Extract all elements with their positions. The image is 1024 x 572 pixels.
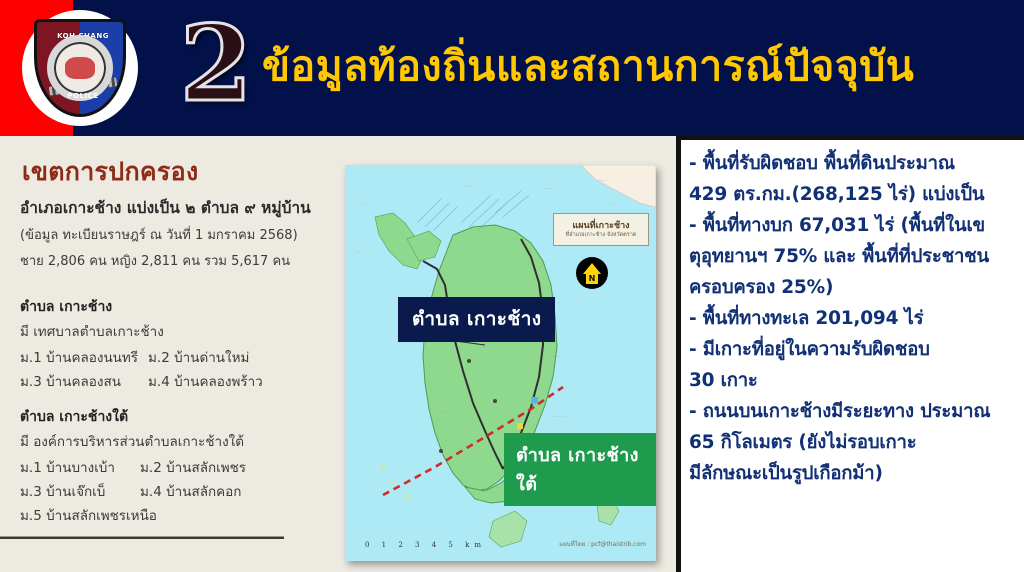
svg-text:........: ........ (597, 177, 607, 182)
north-arrow-icon: N (576, 257, 608, 289)
koh-chang-police-badge: KOH CHANG POLICE (22, 10, 138, 126)
header-bar: KOH CHANG POLICE 2 ข้อมูลท้องถิ่นและสถาน… (0, 0, 1024, 136)
right-panel-line: - ถนนบนเกาะช้างมีระยะทาง ประมาณ (689, 396, 1024, 427)
svg-text:.....: ..... (355, 249, 361, 254)
left-panel-subheading: อำเภอเกาะช้าง แบ่งเป็น ๒ ตำบล ๙ หมู่บ้าน (20, 195, 311, 220)
population-stats: ชาย 2,806 คน หญิง 2,811 คน รวม 5,617 คน (20, 250, 290, 271)
badge-inner: KOH CHANG POLICE (34, 19, 126, 117)
right-panel-line: - พื้นที่ทางทะเล 201,094 ไร่ (689, 303, 1024, 334)
tambon-koh-chang-title: ตำบล เกาะช้าง (20, 296, 112, 318)
horizontal-divider (0, 536, 284, 539)
map-label-tambon-koh-chang-tai: ตำบล เกาะช้างใต้ (504, 433, 656, 506)
badge-bottom-text: POLICE (37, 92, 129, 100)
right-panel-line: 429 ตร.กม.(268,125 ไร่) แบ่งเป็น (689, 179, 1024, 210)
village-item: ม.1 บ้านบางเบ้า (20, 456, 115, 478)
section-number: 2 (176, 4, 256, 124)
map-credit: แผนที่โดย : pcf@thaistrib.com (559, 539, 646, 549)
left-panel-note: (ข้อมูล ทะเบียนราษฎร์ ณ วันที่ 1 มกราคม … (20, 224, 298, 245)
right-panel-line: - พื้นที่ทางบก 67,031 ไร่ (พื้นที่ในเข (689, 210, 1024, 241)
right-panel-line: 30 เกาะ (689, 365, 1024, 396)
svg-text:.......: ....... (551, 353, 560, 358)
right-panel-line: 65 กิโลเมตร (ยังไม่รอบเกาะ (689, 427, 1024, 458)
koh-chang-map-image: .......... ............ ............. ..… (345, 165, 656, 561)
map-label-tambon-koh-chang: ตำบล เกาะช้าง (398, 297, 555, 342)
map-legend-subtitle: ที่อำเภอเกาะช้าง จังหวัดตราด (554, 231, 648, 239)
svg-text:......: ...... (545, 185, 553, 190)
right-panel-text: - พื้นที่รับผิดชอบ พื้นที่ดินประมาณ429 ต… (689, 148, 1024, 489)
village-item: ม.4 บ้านคลองพร้าว (148, 370, 263, 392)
village-item: ม.2 บ้านด่านใหม่ (148, 346, 249, 368)
svg-text:..........: .......... (553, 413, 566, 418)
left-panel-heading: เขตการปกครอง (22, 152, 198, 192)
svg-text:.....: ..... (607, 201, 613, 206)
village-item: ม.1 บ้านคลองนนทรี (20, 346, 138, 368)
svg-text:.....: ..... (441, 409, 447, 414)
slide-root: KOH CHANG POLICE 2 ข้อมูลท้องถิ่นและสถาน… (0, 0, 1024, 572)
right-info-panel: - พื้นที่รับผิดชอบ พื้นที่ดินประมาณ429 ต… (676, 136, 1024, 572)
tambon-koh-chang-admin: มี เทศบาลตำบลเกาะช้าง (20, 320, 164, 342)
svg-text:....: .... (405, 527, 410, 532)
map-legend-title: แผนที่เกาะช้าง (554, 218, 648, 232)
village-item: ม.5 บ้านสลักเพชรเหนือ (20, 504, 157, 526)
north-letter: N (576, 273, 608, 284)
map-scale-bar: 0 1 2 3 4 5 km (365, 541, 486, 549)
svg-text:.....: ..... (359, 201, 365, 206)
village-item: ม.3 บ้านเจ๊กเบ็ (20, 480, 105, 502)
right-panel-line: - พื้นที่รับผิดชอบ พื้นที่ดินประมาณ (689, 148, 1024, 179)
village-item: ม.3 บ้านคลองสน (20, 370, 121, 392)
village-item: ม.4 บ้านสลักคอก (140, 480, 241, 502)
right-panel-line: ตุอุทยานฯ 75% และ พื้นที่ที่ประชาชน (689, 241, 1024, 272)
tambon-koh-chang-tai-title: ตำบล เกาะช้างใต้ (20, 406, 128, 428)
tambon-koh-chang-tai-admin: มี องค์การบริหารส่วนตำบลเกาะช้างใต้ (20, 430, 244, 452)
shield-icon: KOH CHANG POLICE (34, 19, 126, 117)
svg-text:......: ...... (465, 183, 473, 188)
map-legend-box: แผนที่เกาะช้าง ที่อำเภอเกาะช้าง จังหวัดต… (553, 213, 649, 246)
right-panel-line: มีลักษณะเป็นรูปเกือกม้า) (689, 458, 1024, 489)
village-item: ม.2 บ้านสลักเพชร (140, 456, 246, 478)
right-panel-line: - มีเกาะที่อยู่ในความรับผิดชอบ (689, 334, 1024, 365)
page-title: ข้อมูลท้องถิ่นและสถานการณ์ปัจจุบัน (262, 36, 1002, 96)
right-panel-line: ครอบครอง 25%) (689, 272, 1024, 303)
